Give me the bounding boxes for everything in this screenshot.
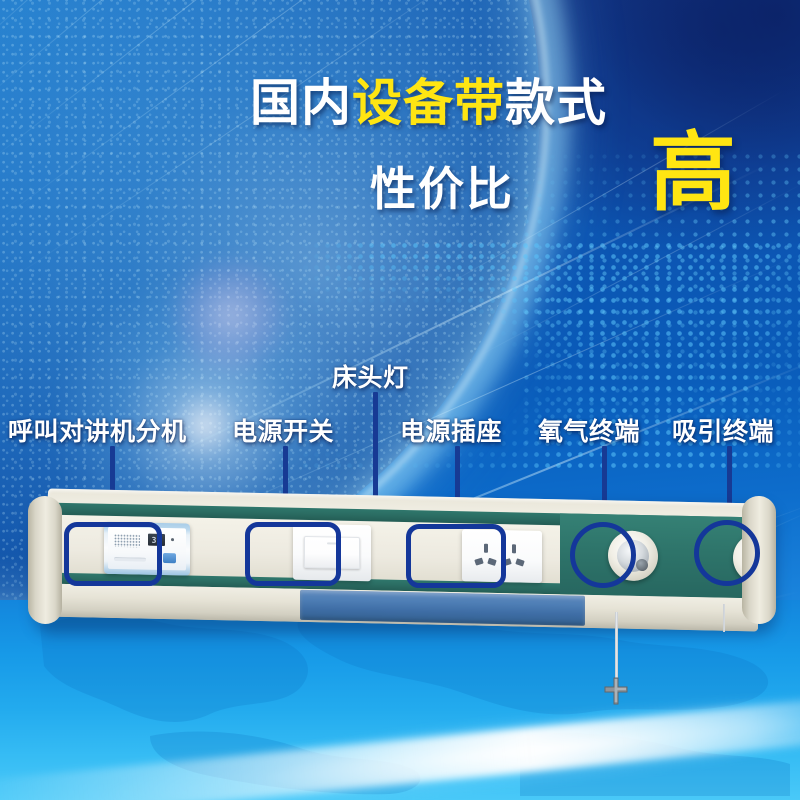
panel-body: 39: [48, 489, 758, 632]
headline-line-1: 国内设备带款式: [250, 78, 790, 128]
callout-label-power-switch: 电源开关: [232, 412, 334, 448]
medical-bedhead-unit: 39: [28, 496, 776, 632]
callout-label-power-socket: 电源插座: [400, 412, 502, 448]
headline-line-2: 性价比: [370, 166, 514, 212]
oxygen-outlet-icon: [617, 539, 649, 572]
callout-label-suction-terminal: 吸引终端: [672, 412, 774, 448]
intercom-faceplate: 39: [108, 527, 186, 571]
power-socket[interactable]: [462, 529, 542, 583]
oxygen-outlet-core: [636, 559, 648, 571]
bed-lamp-light-strip[interactable]: [300, 590, 585, 626]
power-switch[interactable]: [293, 524, 371, 582]
switch-indicator-mark: [327, 542, 341, 544]
intercom-slot: [114, 557, 146, 562]
socket-hole-earth-right: [512, 544, 516, 553]
headline-text-domestic: 国内: [250, 74, 352, 132]
headline-emphasis-high: 高: [650, 130, 736, 216]
panel-end-cap-left: [28, 496, 62, 625]
poster-canvas: 国内设备带款式 性价比 高 呼叫对讲机分机 电源开关 床头灯 电源插座 氧气终端…: [0, 0, 800, 800]
headline-text-bedhead-unit: 设备带: [352, 74, 505, 132]
callout-label-intercom: 呼叫对讲机分机: [8, 412, 187, 448]
intercom-indicator-led: [171, 538, 174, 541]
callout-label-oxygen-terminal: 氧气终端: [538, 412, 640, 448]
pull-cord-icon[interactable]: [601, 676, 631, 706]
speaker-grille-icon: [114, 534, 140, 548]
oxygen-terminal-outlet[interactable]: [608, 530, 658, 581]
panel-teal-section: [560, 513, 758, 598]
socket-hole-live-left: [474, 558, 483, 566]
socket-hole-neutral-right: [515, 558, 524, 566]
panel-end-cap-right: [742, 496, 776, 625]
socket-hole-neutral-left: [487, 558, 496, 566]
rocker-switch-icon[interactable]: [304, 536, 360, 569]
socket-hole-earth-left: [484, 544, 488, 553]
socket-hole-live-right: [502, 558, 511, 566]
headline-text-style: 款式: [505, 74, 607, 132]
pull-cord-secondary[interactable]: [723, 604, 725, 632]
intercom-call-button[interactable]: [163, 553, 176, 563]
headline-block: 国内设备带款式 性价比 高: [250, 78, 790, 128]
callout-label-bed-lamp: 床头灯: [332, 358, 409, 394]
nurse-call-intercom[interactable]: 39: [104, 522, 190, 576]
intercom-display: 39: [148, 534, 165, 546]
